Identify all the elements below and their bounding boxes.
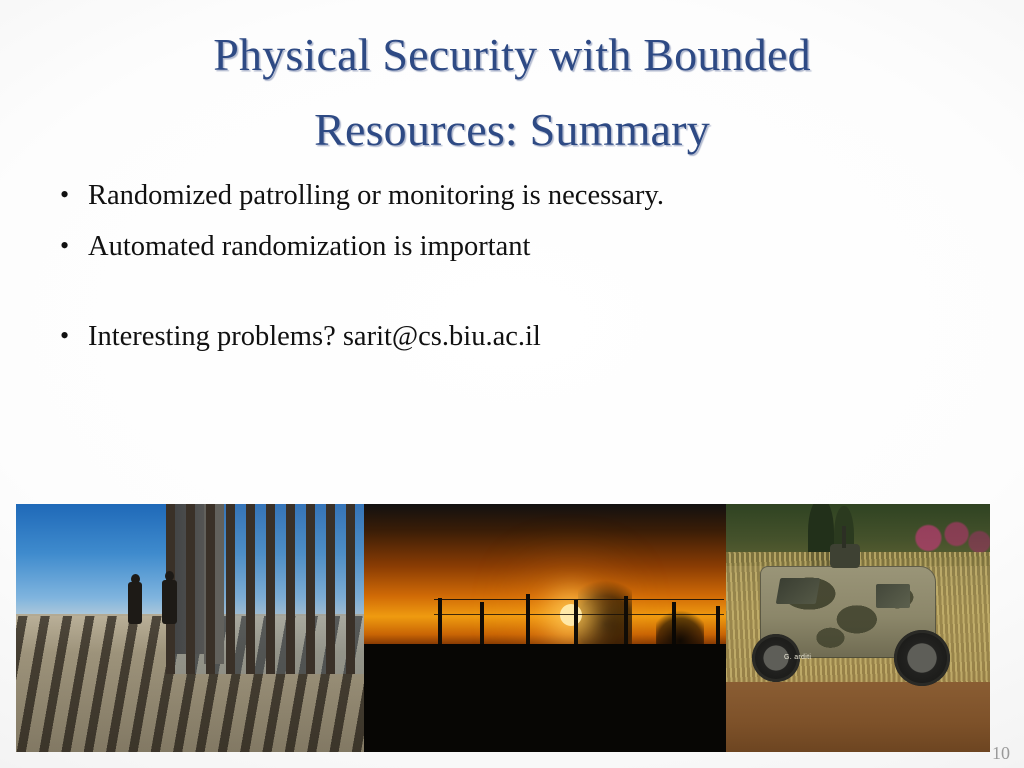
border-fence-photo bbox=[16, 504, 364, 752]
bullet-text: Randomized patrolling or monitoring is n… bbox=[88, 182, 988, 211]
fence-posts bbox=[166, 504, 364, 674]
patrol-figure-head bbox=[165, 571, 174, 581]
list-item: • Automated randomization is important bbox=[48, 233, 988, 262]
bullet-text-contact-email: Interesting problems? sarit@cs.biu.ac.il bbox=[88, 323, 988, 352]
patrol-figure-head bbox=[131, 574, 140, 584]
ugv-marking-text: G. arditi bbox=[784, 654, 811, 661]
patrol-figure-body bbox=[162, 580, 177, 624]
slide-title-line-2: Resources: Summary bbox=[60, 93, 964, 168]
dark-foreground bbox=[364, 644, 726, 752]
dirt-track bbox=[726, 682, 990, 752]
camouflaged-ugv-photo: G. arditi bbox=[726, 504, 990, 752]
page-number: 10 bbox=[992, 743, 1010, 764]
bullet-marker-icon: • bbox=[48, 323, 88, 349]
bullet-marker-icon: • bbox=[48, 182, 88, 208]
list-item: • Interesting problems? sarit@cs.biu.ac.… bbox=[48, 323, 988, 352]
bullet-list: • Randomized patrolling or monitoring is… bbox=[48, 182, 988, 374]
ugv-rear-window bbox=[876, 584, 910, 608]
list-item: • Randomized patrolling or monitoring is… bbox=[48, 182, 988, 211]
bullet-text: Automated randomization is important bbox=[88, 233, 988, 262]
bullet-marker-icon: • bbox=[48, 233, 88, 259]
patrol-figure-body bbox=[128, 582, 142, 624]
presentation-slide: Physical Security with Bounded Resources… bbox=[0, 0, 1024, 768]
ugv-wheel-front bbox=[894, 630, 950, 686]
slide-title-line-1: Physical Security with Bounded bbox=[213, 29, 811, 80]
ugv-front-window bbox=[776, 578, 821, 604]
ugv-gun-barrel bbox=[842, 526, 846, 548]
sunset-fence-photo bbox=[364, 504, 726, 752]
image-strip: G. arditi bbox=[16, 504, 990, 752]
slide-title: Physical Security with Bounded Resources… bbox=[60, 18, 964, 167]
